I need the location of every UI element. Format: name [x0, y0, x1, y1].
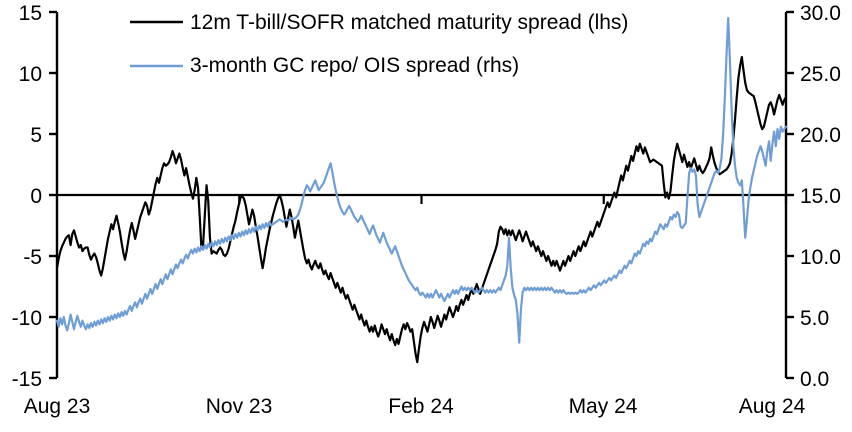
- y-right-tick-label-4: 10.0: [800, 247, 841, 268]
- y-left-tick-label-3: 0: [0, 186, 42, 207]
- y-right-tick-label-5: 5.0: [800, 308, 829, 329]
- y-left-tick-label-4: -5: [0, 247, 42, 268]
- x-tick-label-0: Aug 23: [7, 396, 107, 417]
- chart-container: 15 10 5 0 -5 -10 -15 30.0 25.0 20.0 15.0…: [0, 0, 852, 432]
- y-right-tick-label-3: 15.0: [800, 186, 841, 207]
- y-left-tick-label-0: 15: [0, 3, 42, 24]
- y-left-tick-label-2: 5: [0, 125, 42, 146]
- legend-label-0: 12m T-bill/SOFR matched maturity spread …: [190, 12, 628, 33]
- y-left-tick-label-5: -10: [0, 308, 42, 329]
- y-right-tick-label-0: 30.0: [800, 3, 841, 24]
- x-tick-label-1: Nov 23: [189, 396, 289, 417]
- y-left-tick-label-1: 10: [0, 64, 42, 85]
- y-right-tick-label-1: 25.0: [800, 64, 841, 85]
- series-line-0: [57, 57, 786, 362]
- y-right-tick-label-2: 20.0: [800, 125, 841, 146]
- legend-label-1: 3-month GC repo/ OIS spread (rhs): [190, 55, 519, 76]
- x-tick-label-2: Feb 24: [371, 396, 471, 417]
- x-tick-label-3: May 24: [553, 396, 653, 417]
- y-right-tick-label-6: 0.0: [800, 369, 829, 390]
- x-tick-label-4: Aug 24: [722, 396, 822, 417]
- y-left-tick-label-6: -15: [0, 369, 42, 390]
